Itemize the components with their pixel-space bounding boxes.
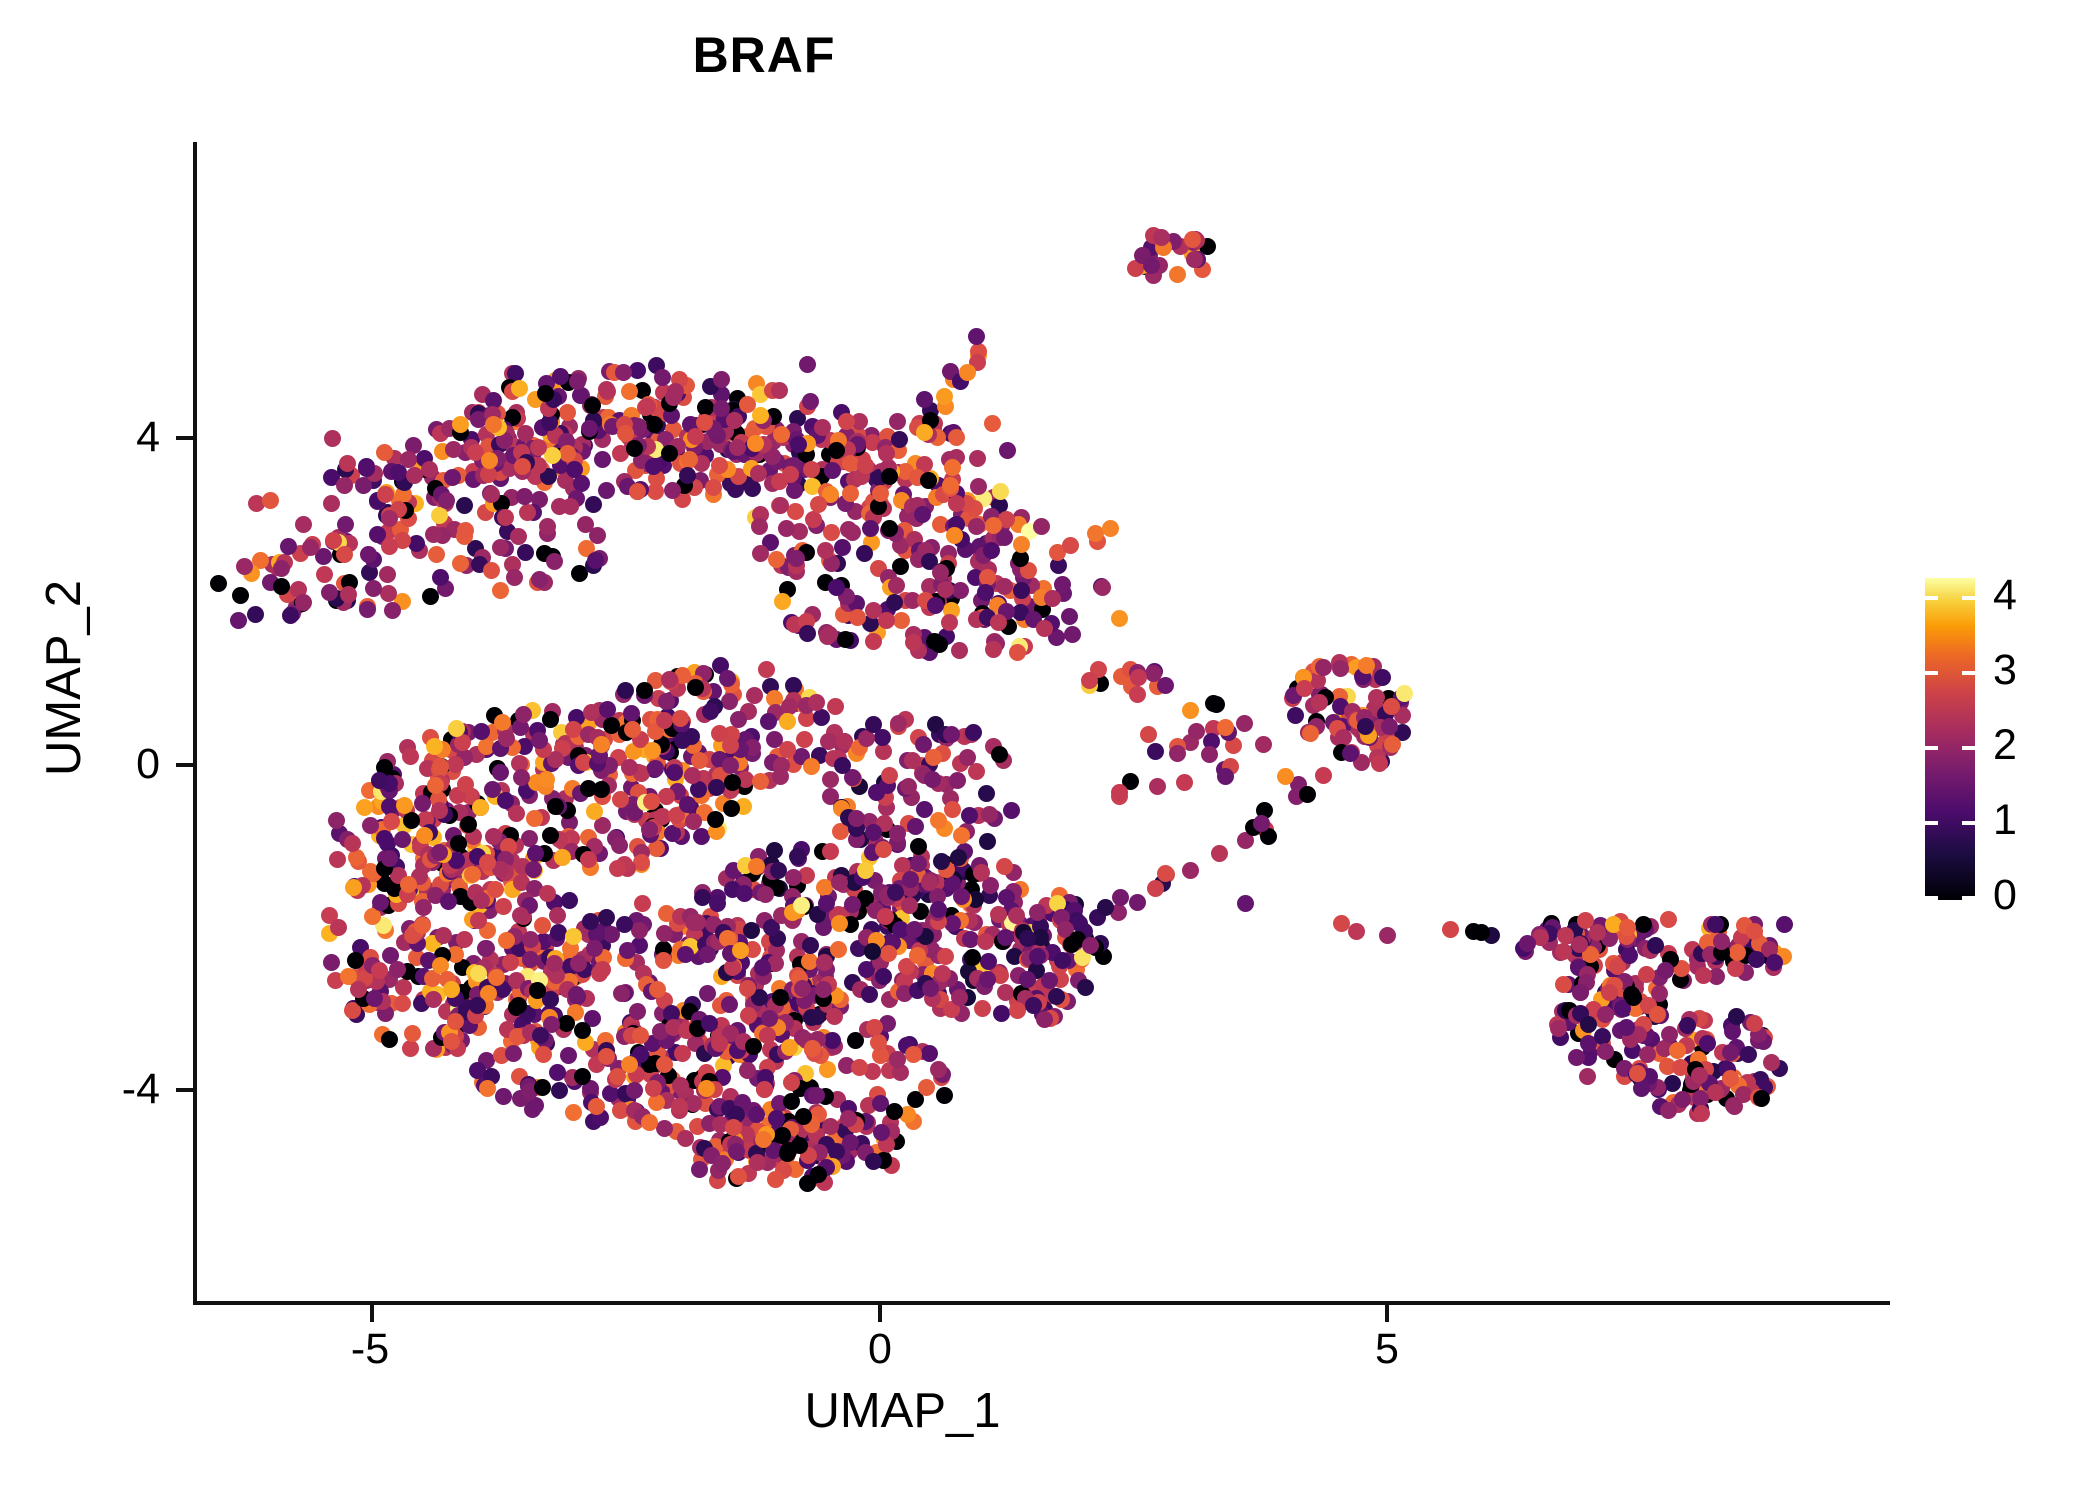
scatter-point <box>932 564 949 581</box>
scatter-point <box>598 482 615 499</box>
scatter-point <box>873 1124 890 1141</box>
scatter-point <box>785 677 802 694</box>
scatter-point <box>745 1038 762 1055</box>
scatter-point <box>574 1068 591 1085</box>
scatter-point <box>535 1046 552 1063</box>
scatter-point <box>376 444 393 461</box>
scatter-point <box>865 716 882 733</box>
scatter-point <box>473 892 490 909</box>
scatter-point <box>1063 936 1080 953</box>
scatter-point <box>881 520 898 537</box>
colorbar-tick-3-right <box>1962 671 1975 675</box>
scatter-point <box>681 451 698 468</box>
scatter-point <box>996 858 1013 875</box>
scatter-point <box>959 364 976 381</box>
scatter-point <box>505 1045 522 1062</box>
scatter-point <box>565 928 582 945</box>
scatter-point <box>1009 1002 1026 1019</box>
scatter-point <box>302 539 319 556</box>
scatter-point <box>1729 944 1746 961</box>
x-tick-label-neg5: -5 <box>300 1328 440 1371</box>
scatter-point <box>359 601 376 618</box>
scatter-point <box>1253 815 1270 832</box>
scatter-point <box>1217 768 1234 785</box>
scatter-point <box>1657 962 1674 979</box>
scatter-point <box>464 866 481 883</box>
scatter-point <box>808 1087 825 1104</box>
scatter-point <box>822 843 839 860</box>
scatter-point <box>1633 1080 1650 1097</box>
scatter-point <box>743 922 760 939</box>
colorbar-tick-1-left <box>1925 821 1938 825</box>
scatter-point <box>813 709 830 726</box>
scatter-point <box>456 497 473 514</box>
scatter-point <box>848 810 865 827</box>
scatter-point <box>750 465 767 482</box>
scatter-point <box>857 862 874 879</box>
colorbar-label-3: 3 <box>1993 649 2017 692</box>
scatter-point <box>918 1079 935 1096</box>
scatter-point <box>366 990 383 1007</box>
scatter-point <box>914 506 931 523</box>
scatter-point <box>771 473 788 490</box>
scatter-point <box>1695 967 1712 984</box>
scatter-point <box>786 482 803 499</box>
scatter-point <box>655 952 672 969</box>
scatter-point <box>402 748 419 765</box>
x-tick-label-5: 5 <box>1317 1328 1457 1371</box>
scatter-point <box>664 482 681 499</box>
scatter-point <box>713 371 730 388</box>
scatter-point <box>658 693 675 710</box>
scatter-point <box>1342 745 1359 762</box>
y-tick-mark-4 <box>176 436 193 440</box>
scatter-point <box>445 441 462 458</box>
scatter-point <box>948 495 965 512</box>
scatter-point <box>964 949 981 966</box>
scatter-point <box>830 941 847 958</box>
scatter-point <box>381 538 398 555</box>
scatter-point <box>273 560 290 577</box>
colorbar-tick-4-right <box>1962 596 1975 600</box>
scatter-point <box>472 799 489 816</box>
scatter-point <box>1691 1067 1708 1084</box>
scatter-point <box>1635 916 1652 933</box>
scatter-point <box>937 581 954 598</box>
scatter-point <box>230 612 247 629</box>
scatter-point <box>1157 865 1174 882</box>
scatter-point <box>941 614 958 631</box>
scatter-point <box>1679 1017 1696 1034</box>
y-tick-mark-neg4 <box>176 1088 193 1092</box>
scatter-point <box>1147 743 1164 760</box>
scatter-point <box>1003 802 1020 819</box>
scatter-point <box>781 1039 798 1056</box>
scatter-point <box>1048 988 1065 1005</box>
colorbar-gradient <box>1925 578 1975 900</box>
scatter-point <box>1674 1091 1691 1108</box>
scatter-point <box>641 821 658 838</box>
scatter-point <box>1019 971 1036 988</box>
scatter-point <box>447 756 464 773</box>
scatter-point <box>866 1019 883 1036</box>
scatter-point <box>522 931 539 948</box>
scatter-point <box>1724 1023 1741 1040</box>
scatter-point <box>469 997 486 1014</box>
scatter-point <box>1722 1070 1739 1087</box>
scatter-point <box>823 524 840 541</box>
scatter-point <box>456 931 473 948</box>
scatter-point <box>538 771 555 788</box>
scatter-point <box>427 777 444 794</box>
scatter-point <box>1660 911 1677 928</box>
scatter-point <box>1572 984 1589 1001</box>
scatter-point <box>767 1171 784 1188</box>
scatter-point <box>862 520 879 537</box>
scatter-point <box>656 925 673 942</box>
scatter-point <box>930 1061 947 1078</box>
scatter-point <box>838 413 855 430</box>
scatter-point <box>687 428 704 445</box>
scatter-point <box>810 496 827 513</box>
scatter-point <box>905 1046 922 1063</box>
scatter-point <box>481 452 498 469</box>
scatter-point <box>992 483 1009 500</box>
x-axis-title: UMAP_1 <box>55 1383 1750 1439</box>
scatter-point <box>1557 927 1574 944</box>
scatter-point <box>624 721 641 738</box>
scatter-point <box>865 633 882 650</box>
scatter-point <box>990 906 1007 923</box>
scatter-point <box>639 398 656 415</box>
colorbar-legend: 4 3 2 1 0 <box>1925 578 2090 900</box>
scatter-point <box>672 1077 689 1094</box>
scatter-point <box>477 940 494 957</box>
scatter-point <box>495 1088 512 1105</box>
scatter-point <box>679 467 696 484</box>
scatter-point <box>492 582 509 599</box>
scatter-point <box>400 451 417 468</box>
scatter-point <box>666 764 683 781</box>
colorbar-tick-2-right <box>1962 746 1975 750</box>
scatter-point <box>1054 576 1071 593</box>
x-tick-label-0: 0 <box>810 1328 950 1371</box>
colorbar-label-4: 4 <box>1993 574 2017 617</box>
scatter-point <box>756 1081 773 1098</box>
scatter-point <box>634 895 651 912</box>
scatter-point <box>558 1015 575 1032</box>
scatter-point <box>977 933 994 950</box>
scatter-point <box>948 429 965 446</box>
scatter-point <box>236 558 253 575</box>
scatter-point <box>552 368 569 385</box>
scatter-point <box>609 860 626 877</box>
scatter-point <box>339 455 356 472</box>
scatter-point <box>953 888 970 905</box>
scatter-point <box>611 837 628 854</box>
scatter-point <box>425 526 442 543</box>
scatter-point <box>656 712 673 729</box>
scatter-point <box>849 609 866 626</box>
scatter-point <box>711 457 728 474</box>
scatter-point <box>470 965 487 982</box>
scatter-point <box>1081 672 1098 689</box>
scatter-point <box>983 542 1000 559</box>
scatter-point <box>210 575 227 592</box>
scatter-point <box>778 520 795 537</box>
scatter-point <box>502 954 519 971</box>
scatter-point <box>431 507 448 524</box>
scatter-point <box>844 896 861 913</box>
scatter-point <box>691 752 708 769</box>
scatter-point <box>1396 685 1413 702</box>
scatter-point <box>748 858 765 875</box>
scatter-point <box>323 495 340 512</box>
scatter-point <box>1013 536 1030 553</box>
scatter-point <box>991 746 1008 763</box>
scatter-point <box>751 518 768 535</box>
scatter-point <box>922 980 939 997</box>
scatter-point <box>497 792 514 809</box>
scatter-point <box>1358 657 1375 674</box>
scatter-point <box>803 758 820 775</box>
scatter-point <box>603 717 620 734</box>
scatter-point <box>969 450 986 467</box>
scatter-point <box>944 459 961 476</box>
scatter-point <box>1062 537 1079 554</box>
scatter-point <box>566 461 583 478</box>
scatter-point <box>684 767 701 784</box>
scatter-point <box>933 853 950 870</box>
scatter-point <box>416 827 433 844</box>
scatter-point <box>316 566 333 583</box>
scatter-point <box>658 788 675 805</box>
scatter-point <box>645 458 662 475</box>
scatter-point <box>757 886 774 903</box>
scatter-point <box>1348 923 1365 940</box>
scatter-point <box>402 1040 419 1057</box>
scatter-point <box>379 566 396 583</box>
scatter-point <box>661 445 678 462</box>
scatter-point <box>580 780 597 797</box>
scatter-point <box>1555 943 1572 960</box>
scatter-point <box>946 527 963 544</box>
scatter-point <box>685 813 702 830</box>
scatter-point <box>1201 746 1218 763</box>
scatter-point <box>619 942 636 959</box>
scatter-point <box>1140 726 1157 743</box>
scatter-point <box>752 545 769 562</box>
scatter-point <box>450 835 467 852</box>
scatter-point <box>1597 1043 1614 1060</box>
scatter-point <box>539 885 556 902</box>
scatter-point <box>719 670 736 687</box>
scatter-point <box>1061 608 1078 625</box>
scatter-point <box>508 805 525 822</box>
scatter-point <box>698 1080 715 1097</box>
scatter-point <box>513 769 530 786</box>
scatter-point <box>1129 686 1146 703</box>
scatter-point <box>951 989 968 1006</box>
scatter-point <box>632 1027 649 1044</box>
scatter-point <box>1277 768 1294 785</box>
scatter-point <box>645 1080 662 1097</box>
scatter-point <box>457 776 474 793</box>
scatter-point <box>701 1015 718 1032</box>
scatter-point <box>790 436 807 453</box>
x-tick-mark-neg5 <box>370 1305 374 1322</box>
scatter-point <box>1601 984 1618 1001</box>
scatter-point <box>648 1094 665 1111</box>
scatter-point <box>1357 718 1374 735</box>
scatter-point <box>394 995 411 1012</box>
scatter-point <box>909 947 926 964</box>
scatter-point <box>878 445 895 462</box>
scatter-point <box>649 981 666 998</box>
scatter-point <box>900 778 917 795</box>
scatter-point <box>943 726 960 743</box>
scatter-point <box>400 876 417 893</box>
scatter-point <box>875 841 892 858</box>
scatter-point <box>814 419 831 436</box>
scatter-point <box>435 927 452 944</box>
scatter-point <box>1332 660 1349 677</box>
scatter-point <box>824 462 841 479</box>
scatter-point <box>772 768 789 785</box>
x-axis-line <box>193 1301 1890 1305</box>
scatter-point <box>1746 923 1763 940</box>
scatter-point <box>921 874 938 891</box>
scatter-point <box>1740 1046 1757 1063</box>
scatter-point <box>527 845 544 862</box>
scatter-point <box>979 833 996 850</box>
scatter-point <box>551 1082 568 1099</box>
scatter-point <box>1374 669 1391 686</box>
scatter-point <box>924 771 941 788</box>
scatter-point <box>345 879 362 896</box>
scatter-point <box>702 703 719 720</box>
scatter-point <box>752 773 769 790</box>
scatter-point <box>1579 1068 1596 1085</box>
y-tick-mark-0 <box>176 763 193 767</box>
scatter-point <box>1188 723 1205 740</box>
scatter-point <box>772 497 789 514</box>
scatter-point <box>902 871 919 888</box>
scatter-point <box>1315 767 1332 784</box>
scatter-point <box>1145 665 1162 682</box>
scatter-point <box>534 917 551 934</box>
scatter-point <box>1629 1065 1646 1082</box>
scatter-point <box>999 442 1016 459</box>
scatter-point <box>526 810 543 827</box>
scatter-point <box>587 552 604 569</box>
scatter-point <box>772 989 789 1006</box>
scatter-point <box>1728 1008 1745 1025</box>
scatter-point <box>822 771 839 788</box>
scatter-point <box>802 393 819 410</box>
scatter-point <box>511 380 528 397</box>
scatter-point <box>247 606 264 623</box>
scatter-point <box>529 982 546 999</box>
scatter-point <box>560 1047 577 1064</box>
scatter-point <box>916 424 933 441</box>
colorbar-tick-4-left <box>1925 596 1938 600</box>
scatter-point <box>381 510 398 527</box>
scatter-point <box>1237 895 1254 912</box>
scatter-point <box>758 661 775 678</box>
scatter-point <box>641 1114 658 1131</box>
scatter-point <box>626 1082 643 1099</box>
scatter-point <box>483 562 500 579</box>
scatter-point <box>1707 916 1724 933</box>
scatter-point <box>516 488 533 505</box>
scatter-point <box>744 480 761 497</box>
scatter-point <box>623 705 640 722</box>
scatter-point <box>1205 695 1222 712</box>
scatter-point <box>904 752 921 769</box>
scatter-point <box>324 430 341 447</box>
scatter-point <box>514 458 531 475</box>
scatter-point <box>371 962 388 979</box>
scatter-point <box>739 1062 756 1079</box>
scatter-point <box>1077 979 1094 996</box>
scatter-point <box>953 827 970 844</box>
scatter-point <box>621 383 638 400</box>
scatter-point <box>1550 1020 1567 1037</box>
scatter-point <box>677 946 694 963</box>
scatter-point <box>760 713 777 730</box>
scatter-point <box>780 1142 797 1159</box>
scatter-point <box>723 800 740 817</box>
scatter-point <box>554 849 571 866</box>
scatter-point <box>444 469 461 486</box>
scatter-point <box>961 807 978 824</box>
scatter-point <box>531 571 548 588</box>
scatter-point <box>728 1143 745 1160</box>
scatter-point <box>927 597 944 614</box>
scatter-point <box>925 749 942 766</box>
scatter-point <box>376 830 393 847</box>
scatter-point <box>616 916 633 933</box>
scatter-point <box>414 917 431 934</box>
scatter-point <box>834 539 851 556</box>
y-tick-label-neg4: -4 <box>40 1068 160 1111</box>
scatter-point <box>736 885 753 902</box>
scatter-point <box>1776 916 1793 933</box>
scatter-point <box>985 641 1002 658</box>
scatter-point <box>1217 719 1234 736</box>
scatter-point <box>771 382 788 399</box>
scatter-point <box>1036 620 1053 637</box>
scatter-point <box>713 400 730 417</box>
scatter-point <box>886 594 903 611</box>
scatter-point <box>621 1056 638 1073</box>
scatter-point <box>586 803 603 820</box>
scatter-point <box>671 1098 688 1115</box>
scatter-point <box>1568 1049 1585 1066</box>
scatter-point <box>1029 948 1046 965</box>
scatter-point <box>878 612 895 629</box>
scatter-point <box>1555 976 1572 993</box>
scatter-point <box>621 759 638 776</box>
scatter-point <box>546 553 563 570</box>
colorbar-tick-3-left <box>1925 671 1938 675</box>
scatter-point <box>705 479 722 496</box>
scatter-point <box>569 373 586 390</box>
colorbar-tick-0-left <box>1925 896 1938 900</box>
scatter-point <box>615 364 632 381</box>
scatter-point <box>404 1025 421 1042</box>
